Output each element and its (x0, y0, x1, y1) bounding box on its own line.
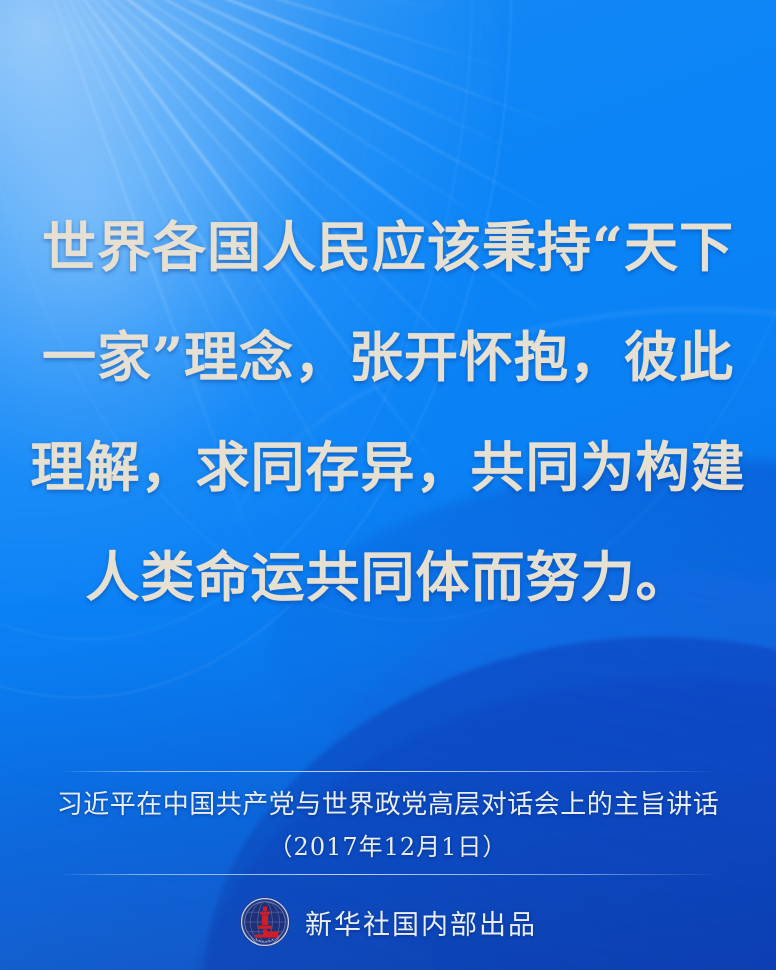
caption-date: （2017年12月1日） (0, 826, 776, 868)
xinhua-agency-logo-icon (239, 896, 291, 948)
quote-line: 人类命运共同体而努力。 (0, 522, 776, 632)
quote-line: 理解，求同存异，共同为构建 (0, 412, 776, 522)
divider-above-caption (58, 771, 718, 772)
divider-below-caption (58, 874, 718, 875)
footer: 新华社国内部出品 (0, 896, 776, 948)
quote-block: 世界各国人民应该秉持“天下 一家”理念，张开怀抱，彼此 理解，求同存异，共同为构… (0, 192, 776, 632)
poster-content: 世界各国人民应该秉持“天下 一家”理念，张开怀抱，彼此 理解，求同存异，共同为构… (0, 0, 776, 970)
quote-line: 世界各国人民应该秉持“天下 (0, 192, 776, 302)
caption-source: 习近平在中国共产党与世界政党高层对话会上的主旨讲话 (0, 784, 776, 826)
caption-block: 习近平在中国共产党与世界政党高层对话会上的主旨讲话 （2017年12月1日） (0, 784, 776, 868)
quote-line: 一家”理念，张开怀抱，彼此 (0, 302, 776, 412)
poster: 世界各国人民应该秉持“天下 一家”理念，张开怀抱，彼此 理解，求同存异，共同为构… (0, 0, 776, 970)
publisher-label: 新华社国内部出品 (305, 903, 537, 942)
